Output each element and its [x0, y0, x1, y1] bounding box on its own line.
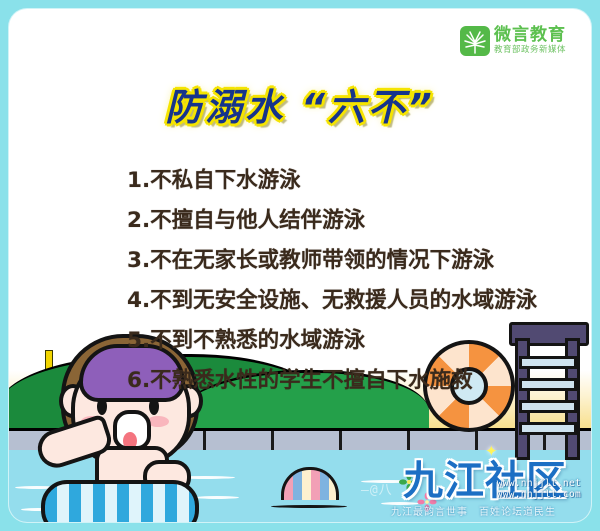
faint-watermark-text: —@八	[361, 479, 393, 498]
rules-list: 1.不私自下水游泳 2.不擅自与他人结伴游泳 3.不在无家长或教师带领的情况下游…	[127, 161, 591, 401]
sunburst-plant-icon	[460, 26, 490, 56]
ladder-rung	[519, 400, 577, 413]
list-item: 3.不在无家长或教师带领的情况下游泳	[127, 241, 591, 281]
site-watermark: ✦ 九江社区 www.nhjjlt.net www.nhjjlt.com 九江最…	[399, 436, 585, 520]
brand-name: 微言教育	[494, 27, 566, 44]
site-tagline: 九江最韵言世事 百姓论坛道民生	[391, 503, 556, 518]
site-urls: www.nhjjlt.net www.nhjjlt.com	[497, 478, 581, 500]
page-title: 防溺水 “六不”	[9, 77, 591, 131]
poster-card: 微言教育 教育部政务新媒体 防溺水 “六不” 1.不私自下水游泳 2.不擅自与他…	[9, 9, 591, 522]
mouth-shape	[113, 410, 151, 450]
list-item: 4.不到无安全设施、无救援人员的水域游泳	[127, 281, 591, 321]
list-item: 6.不熟悉水性的学生不擅自下水施救	[127, 361, 591, 401]
site-url: www.nhjjlt.net	[497, 478, 581, 489]
sunburst-plant-glyph	[462, 29, 488, 55]
eye-shape	[97, 398, 107, 415]
ball-water-line	[271, 505, 347, 508]
list-item: 5.不到不熟悉的水域游泳	[127, 321, 591, 361]
ladder-rung	[519, 422, 577, 435]
list-item: 1.不私自下水游泳	[127, 161, 591, 201]
brand-subtitle: 教育部政务新媒体	[494, 46, 566, 55]
swim-ring-icon	[41, 480, 199, 522]
site-url: www.nhjjlt.com	[497, 489, 581, 500]
poster-root: 微言教育 教育部政务新媒体 防溺水 “六不” 1.不私自下水游泳 2.不擅自与他…	[0, 0, 600, 531]
list-item: 2.不擅自与他人结伴游泳	[127, 201, 591, 241]
brand-logo-text: 微言教育 教育部政务新媒体	[494, 27, 566, 55]
brand-logo: 微言教育 教育部政务新媒体	[460, 22, 591, 60]
